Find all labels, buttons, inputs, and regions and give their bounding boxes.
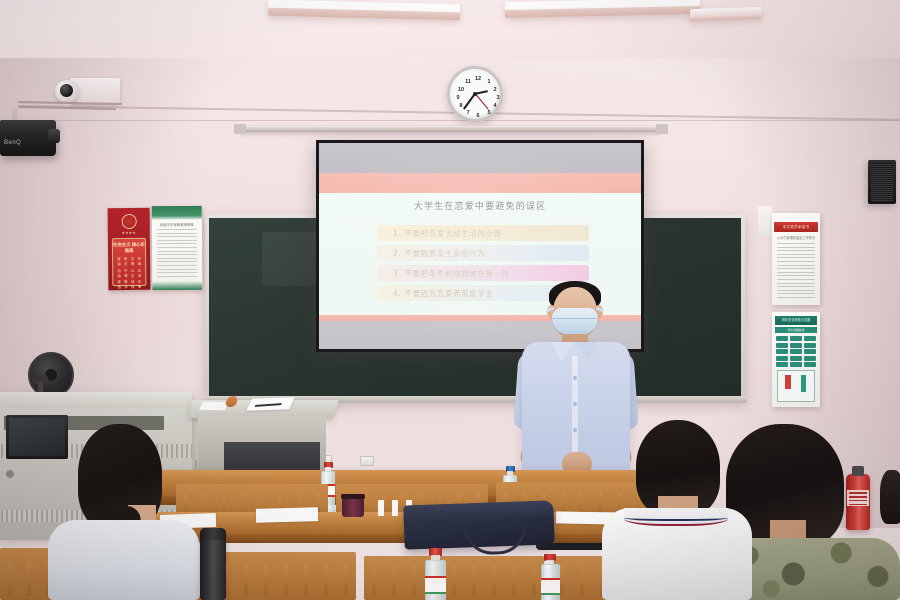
bench-slats <box>372 566 536 596</box>
bag-handle[interactable] <box>464 523 527 555</box>
bench-backrest <box>364 556 544 600</box>
thermos-flask[interactable] <box>200 528 226 600</box>
poster-value: 民主 <box>123 257 129 267</box>
student-partial-right-edge <box>880 470 900 524</box>
projector-lens <box>48 129 60 143</box>
poster-green-footer <box>152 281 202 290</box>
clock-number: 1 <box>485 78 493 86</box>
chalk-stick[interactable] <box>378 500 384 516</box>
fire-extinguisher <box>846 474 870 530</box>
rod-cap-right <box>656 124 668 134</box>
poster-green-header <box>152 206 202 220</box>
extinguisher-label <box>847 490 869 506</box>
clock-number: 11 <box>464 78 472 86</box>
poster-value: 平等 <box>123 269 129 279</box>
poster-header: 消防安全疏散示意图 <box>775 316 817 325</box>
poster-text-lines <box>157 229 197 280</box>
console-knob[interactable] <box>6 470 14 478</box>
polo-collar-stripe <box>624 513 728 521</box>
floorplan-marker-red <box>785 375 791 389</box>
console-top <box>0 392 192 408</box>
clock-second-hand <box>475 94 489 110</box>
poster-value-grid: 富强 民主 文明 和谐 自由 平等 公正 法治 爱国 敬业 诚信 友善 <box>116 257 142 290</box>
poster-value: 和谐 <box>136 257 142 267</box>
poster-evacuation-plan: 消防安全疏散示意图 紧急疏散路线 <box>772 312 820 407</box>
poster-header: 社会主义 核心价值观 <box>113 242 145 254</box>
poster-pledge-document: 中共党员承诺书 公示栏管理制度及工作职责 <box>772 213 820 305</box>
poster-value: 公正 <box>130 269 136 279</box>
shirt-button <box>573 428 577 432</box>
clock-number: 5 <box>485 109 493 117</box>
monitor-screen <box>9 418 65 456</box>
slide-top-band <box>319 143 641 173</box>
poster-org-name: ★★★★ <box>108 231 150 235</box>
poster-value: 自由 <box>116 269 122 279</box>
speaker-mesh <box>871 163 893 201</box>
slide-accent-stripe <box>319 173 641 193</box>
poster-value: 爱国 <box>116 280 122 290</box>
face-mask <box>552 308 598 335</box>
poster-small-notice <box>758 206 773 236</box>
desk-cup <box>225 396 239 407</box>
bottle-label <box>541 578 560 595</box>
paper-sheet <box>199 402 229 410</box>
water-bottle[interactable] <box>424 548 446 600</box>
travel-mug[interactable] <box>342 497 364 517</box>
poster-value: 富强 <box>116 257 122 267</box>
lectern-body <box>198 416 326 478</box>
poster-value: 文明 <box>130 257 136 267</box>
poster-value: 诚信 <box>130 280 136 290</box>
classroom-photo: BenQ 12 1 2 3 4 5 6 7 8 9 10 11 <box>0 0 900 600</box>
rod-cap-left <box>234 124 246 134</box>
thermos-lid <box>200 528 226 540</box>
slide-bullet-item: 1. 不要把恋爱当成生活的全部 <box>377 225 589 241</box>
poster-title: 班级学生考勤管理制度 <box>152 222 202 227</box>
mask-fold-line <box>552 318 598 319</box>
clock-center-pin <box>473 92 477 96</box>
chalk-stick[interactable] <box>392 500 398 516</box>
projector: BenQ <box>0 120 56 156</box>
slide-bullet-item: 2. 不要随意发生亲密行为 <box>377 245 589 261</box>
wall-monitor <box>6 415 68 459</box>
poster-floorplan <box>777 370 815 402</box>
poster-red-banner: 中共党员承诺书 <box>774 222 818 232</box>
slide-title: 大学生在恋爱中要避免的误区 <box>319 199 641 212</box>
shirt-button <box>573 376 577 380</box>
extinguisher-nozzle <box>852 466 864 476</box>
floorplan-marker-green <box>801 375 806 392</box>
mug-lid <box>341 494 365 499</box>
clock-face: 12 1 2 3 4 5 6 7 8 9 10 11 <box>453 72 497 116</box>
clock-number: 12 <box>474 75 482 83</box>
camera-lens <box>60 84 73 97</box>
poster-value: 友善 <box>137 280 143 290</box>
laptop-bag[interactable] <box>403 500 554 549</box>
projector-brand-label: BenQ <box>4 140 21 146</box>
poster-panel: 社会主义 核心价值观 富强 民主 文明 和谐 自由 平等 公正 法治 爱国 敬业… <box>112 238 147 286</box>
clock-number: 7 <box>464 109 472 117</box>
poster-chip-grid <box>776 336 816 367</box>
poster-core-values: ★★★★ 社会主义 核心价值观 富强 民主 文明 和谐 自由 平等 公正 法治 … <box>108 208 151 290</box>
poster-class-rules: 班级学生考勤管理制度 <box>152 206 203 290</box>
slide-bullet-item: 3. 不要把条件和物质放在第一位 <box>377 265 589 281</box>
clock-number: 3 <box>494 94 502 102</box>
clock-number: 9 <box>454 94 462 102</box>
student-top <box>48 520 200 600</box>
wall-clock: 12 1 2 3 4 5 6 7 8 9 10 11 <box>447 66 503 122</box>
clock-number: 10 <box>457 86 465 94</box>
emblem-icon <box>121 214 136 229</box>
bottle-label <box>425 576 446 594</box>
poster-text-lines <box>777 243 815 301</box>
water-bottle[interactable] <box>540 554 560 600</box>
wall-socket[interactable] <box>360 456 374 466</box>
poster-value: 法治 <box>136 268 142 278</box>
poster-subtitle: 公示栏管理制度及工作职责 <box>772 235 820 240</box>
wall-trim-line <box>0 120 900 121</box>
clock-number: 6 <box>474 112 482 120</box>
ceiling-light-tube <box>690 7 762 22</box>
screen-roller-rod <box>240 126 660 132</box>
poster-value: 敬业 <box>123 280 129 290</box>
wall-speaker <box>868 160 896 204</box>
poster-subheader: 紧急疏散路线 <box>775 327 817 333</box>
clock-number: 2 <box>491 86 499 94</box>
shirt-button <box>573 402 577 406</box>
ceiling-cables <box>18 100 128 122</box>
paper-sheet[interactable] <box>256 507 318 523</box>
